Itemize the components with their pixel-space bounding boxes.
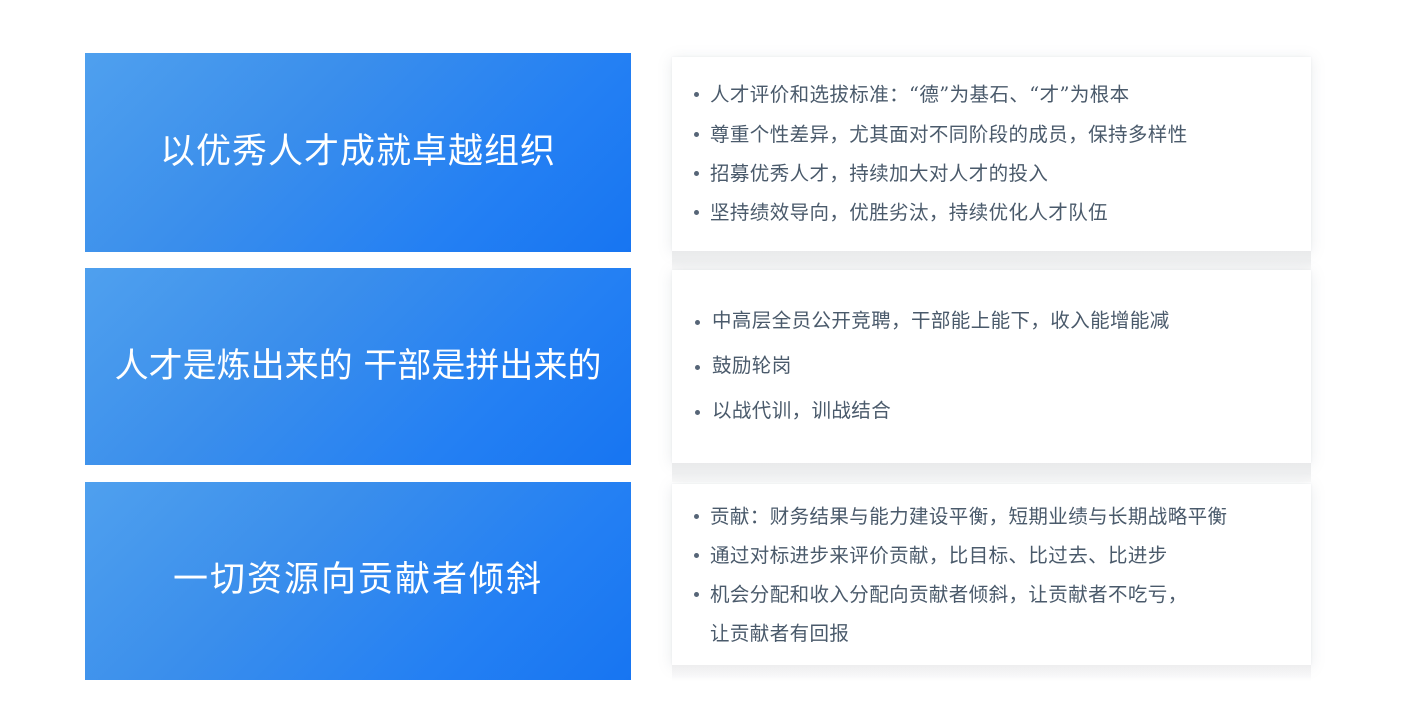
bullet-item: 以战代训，训战结合 xyxy=(690,389,1285,434)
card-gap-band-2 xyxy=(672,463,1311,482)
section-title-3: 一切资源向贡献者倾斜 xyxy=(173,559,543,603)
principles-board: 以优秀人才成就卓越组织 人才评价和选拔标准：“德”为基石、“才”为根本 尊重个性… xyxy=(0,0,1425,712)
bullet-list-3: 贡献：财务结果与能力建设平衡，短期业绩与长期战略平衡 通过对标进步来评价贡献，比… xyxy=(690,497,1285,653)
section-card-2: 中高层全员公开竞聘，干部能上能下，收入能增能减 鼓励轮岗 以战代训，训战结合 xyxy=(672,270,1311,463)
section-banner-2: 人才是炼出来的 干部是拼出来的 xyxy=(85,268,631,465)
section-banner-3: 一切资源向贡献者倾斜 xyxy=(85,482,631,680)
bullet-item: 机会分配和收入分配向贡献者倾斜，让贡献者不吃亏， 让贡献者有回报 xyxy=(690,575,1285,653)
bullet-item: 招募优秀人才，持续加大对人才的投入 xyxy=(690,154,1285,193)
section-card-3: 贡献：财务结果与能力建设平衡，短期业绩与长期战略平衡 通过对标进步来评价贡献，比… xyxy=(672,484,1311,665)
section-card-1: 人才评价和选拔标准：“德”为基石、“才”为根本 尊重个性差异，尤其面对不同阶段的… xyxy=(672,57,1311,251)
section-banner-1: 以优秀人才成就卓越组织 xyxy=(85,53,631,252)
bullet-list-2: 中高层全员公开竞聘，干部能上能下，收入能增能减 鼓励轮岗 以战代训，训战结合 xyxy=(690,299,1285,434)
bullet-list-1: 人才评价和选拔标准：“德”为基石、“才”为根本 尊重个性差异，尤其面对不同阶段的… xyxy=(690,75,1285,233)
section-title-2: 人才是炼出来的 干部是拼出来的 xyxy=(115,345,602,388)
card-gap-band-3 xyxy=(672,665,1311,681)
bullet-item: 鼓励轮岗 xyxy=(690,344,1285,389)
section-title-1: 以优秀人才成就卓越组织 xyxy=(160,131,556,175)
bullet-item: 人才评价和选拔标准：“德”为基石、“才”为根本 xyxy=(690,75,1285,114)
bullet-item: 坚持绩效导向，优胜劣汰，持续优化人才队伍 xyxy=(690,193,1285,232)
bullet-item: 中高层全员公开竞聘，干部能上能下，收入能增能减 xyxy=(690,299,1285,344)
bullet-item: 尊重个性差异，尤其面对不同阶段的成员，保持多样性 xyxy=(690,115,1285,154)
bullet-item: 通过对标进步来评价贡献，比目标、比过去、比进步 xyxy=(690,536,1285,575)
bullet-item: 贡献：财务结果与能力建设平衡，短期业绩与长期战略平衡 xyxy=(690,497,1285,536)
